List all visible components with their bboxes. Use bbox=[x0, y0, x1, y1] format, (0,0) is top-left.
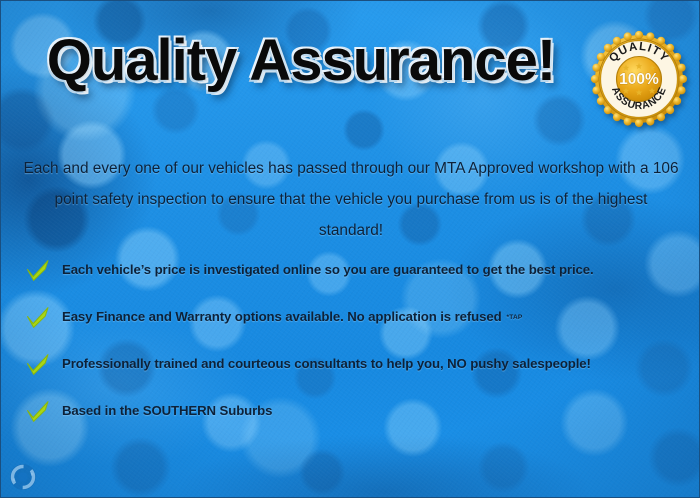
check-icon bbox=[25, 399, 51, 423]
list-item-label: Based in the SOUTHERN Suburbs bbox=[62, 398, 272, 420]
banner-content: Quality Assurance! bbox=[1, 1, 699, 497]
list-item-label: Professionally trained and courteous con… bbox=[62, 351, 591, 373]
body-paragraph: Each and every one of our vehicles has p… bbox=[23, 153, 679, 246]
list-item-label: Each vehicle’s price is investigated onl… bbox=[62, 257, 594, 279]
list-item-label: Easy Finance and Warranty options availa… bbox=[62, 304, 522, 327]
feature-list: Each vehicle’s price is investigated onl… bbox=[25, 257, 675, 445]
quality-assurance-seal-icon: QUALITY ASSURANCE 100% bbox=[589, 29, 689, 129]
check-icon bbox=[25, 352, 51, 376]
check-icon bbox=[25, 258, 51, 282]
list-item-text: Each vehicle’s price is investigated onl… bbox=[62, 262, 594, 277]
list-item-footnote: *TAP bbox=[507, 314, 523, 321]
seal-center-text: 100% bbox=[619, 71, 659, 88]
list-item: Professionally trained and courteous con… bbox=[25, 351, 675, 398]
page-title: Quality Assurance! bbox=[1, 32, 601, 90]
list-item: Each vehicle’s price is investigated onl… bbox=[25, 257, 675, 304]
list-item-text: Based in the SOUTHERN Suburbs bbox=[62, 403, 272, 418]
list-item: Easy Finance and Warranty options availa… bbox=[25, 304, 675, 351]
quality-assurance-banner: Quality Assurance! bbox=[0, 0, 700, 498]
check-icon bbox=[25, 305, 51, 329]
list-item-text: Easy Finance and Warranty options availa… bbox=[62, 309, 502, 324]
list-item-text: Professionally trained and courteous con… bbox=[62, 356, 591, 371]
watermark-logo-icon bbox=[9, 463, 37, 491]
list-item: Based in the SOUTHERN Suburbs bbox=[25, 398, 675, 445]
